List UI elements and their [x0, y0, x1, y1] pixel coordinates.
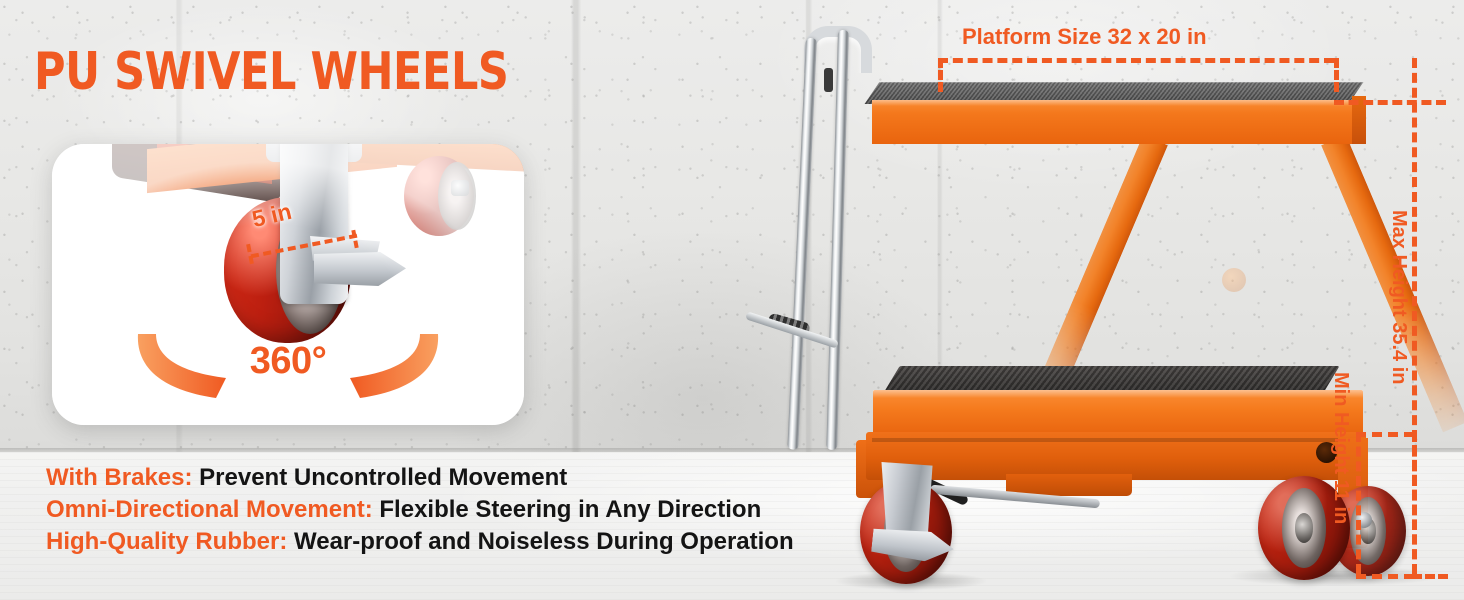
scissor-pivot	[1222, 268, 1246, 292]
wheel-closeup-card: 5 in 360°	[52, 144, 524, 425]
feature-list: With Brakes: Prevent Uncontrolled Moveme…	[46, 462, 876, 558]
swivel-degree-label: 360°	[250, 340, 327, 383]
platform-dimension-tick-right	[1334, 58, 1339, 92]
feature-value: Wear-proof and Noiseless During Operatio…	[294, 528, 794, 555]
rear-caster-rim	[438, 162, 476, 230]
feature-row: High-Quality Rubber: Wear-proof and Nois…	[46, 526, 876, 558]
max-height-bottom-tick	[1412, 574, 1448, 579]
page-title: PU SWIVEL WHEELS	[34, 46, 508, 98]
min-height-dimension-line-right	[1412, 432, 1417, 574]
feature-value: Flexible Steering in Any Direction	[379, 496, 761, 523]
product-infographic: PU SWIVEL WHEELS 5 in	[0, 0, 1464, 600]
rear-caster-axle-bolt	[451, 180, 469, 196]
lower-platform-highlight	[873, 390, 1363, 398]
max-height-label: Max Height 35.4 in	[1387, 210, 1410, 385]
dimension-tick-right	[351, 230, 358, 248]
top-platform-highlight	[872, 100, 1352, 106]
min-height-dimension-line-left	[1356, 432, 1361, 574]
min-height-top-tick	[1356, 432, 1414, 437]
handle-grip-clamp	[824, 68, 833, 92]
feature-value: Prevent Uncontrolled Movement	[199, 464, 567, 491]
feature-key: Omni-Directional Movement:	[46, 496, 373, 523]
wheel-diameter-dimension: 5 in	[238, 212, 358, 274]
platform-leader-line	[1334, 100, 1446, 105]
dimension-line-horizontal	[251, 234, 358, 259]
feature-row: With Brakes: Prevent Uncontrolled Moveme…	[46, 462, 876, 494]
min-height-label: Min Height 11 in	[1329, 372, 1352, 524]
feature-row: Omni-Directional Movement: Flexible Stee…	[46, 494, 876, 526]
hub	[1295, 513, 1313, 542]
min-height-bottom-tick	[1356, 574, 1414, 579]
top-platform-frame	[872, 100, 1352, 144]
handle-tube-right	[826, 30, 849, 450]
platform-dimension-tick-left	[938, 58, 943, 92]
feature-key: High-Quality Rubber:	[46, 528, 287, 555]
feature-key: With Brakes:	[46, 464, 192, 491]
chassis-groove	[872, 438, 1352, 442]
platform-dimension-line-top	[938, 58, 1334, 63]
platform-size-label: Platform Size 32 x 20 in	[962, 24, 1207, 50]
handle-tube-left	[787, 38, 817, 450]
